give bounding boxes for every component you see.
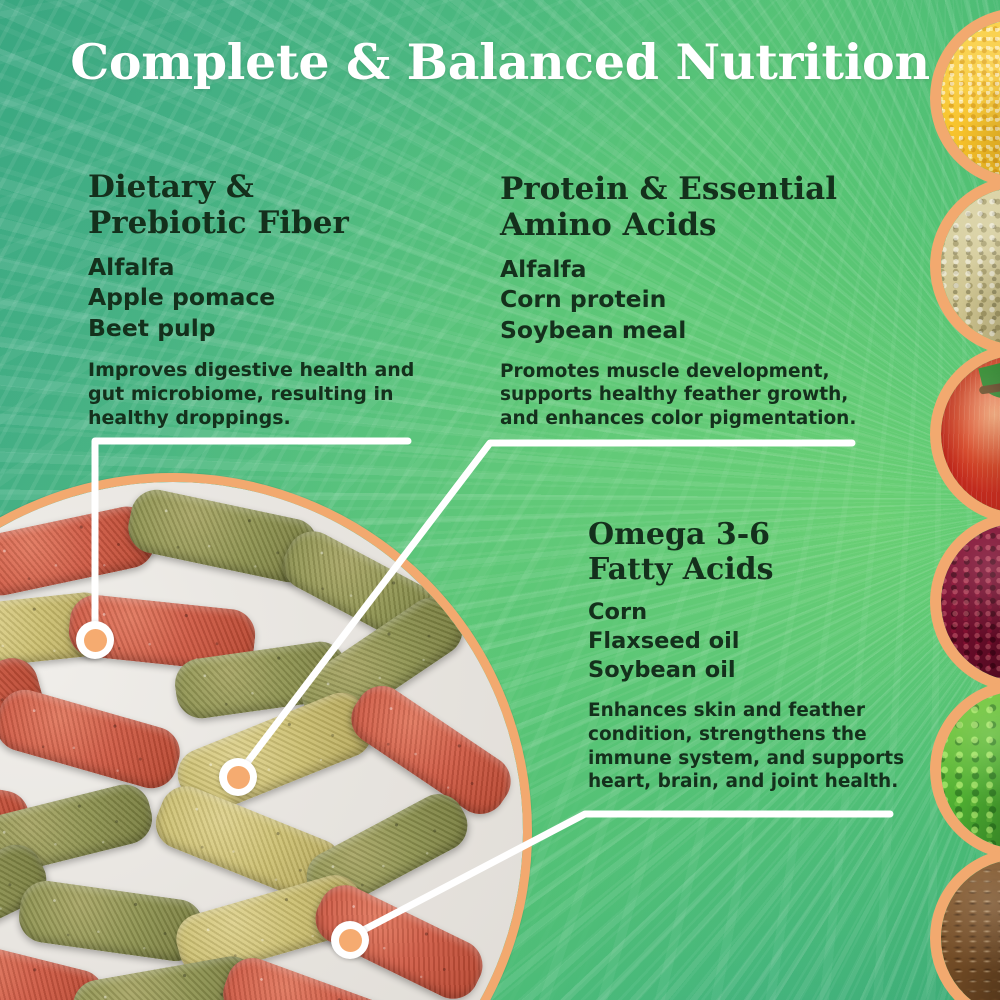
ingredient-item: Soybean oil [588, 656, 908, 685]
ingredient-item: Beet pulp [88, 313, 438, 344]
ingredient-item: Alfalfa [88, 252, 438, 283]
block-omega-ingredient-list: Corn Flaxseed oil Soybean oil [588, 598, 908, 686]
beet-pulp-shading [941, 523, 1000, 681]
page-title: Complete & Balanced Nutrition [0, 33, 1000, 91]
block-omega-description: Enhances skin and feather condition, str… [588, 699, 908, 794]
ingredient-item: Corn protein [500, 284, 870, 315]
block-fiber-ingredient-list: Alfalfa Apple pomace Beet pulp [88, 252, 438, 344]
ingredient-item: Apple pomace [88, 282, 438, 313]
ingredient-item: Flaxseed oil [588, 627, 908, 656]
block-protein-ingredient-list: Alfalfa Corn protein Soybean meal [500, 254, 870, 346]
nutrition-infographic: Complete & Balanced Nutrition [0, 0, 1000, 1000]
ingredient-item: Corn [588, 598, 908, 627]
block-fiber-heading: Dietary & Prebiotic Fiber [88, 170, 438, 242]
block-protein-description: Promotes muscle development, supports he… [500, 360, 870, 431]
alfalfa-shading [941, 691, 1000, 849]
corn-meal-shading [941, 19, 1000, 177]
nutrition-block-omega: Omega 3-6 Fatty Acids Corn Flaxseed oil … [588, 518, 908, 794]
block-fiber-description: Improves digestive health and gut microb… [88, 358, 438, 431]
block-omega-heading: Omega 3-6 Fatty Acids [588, 518, 908, 588]
nutrition-block-protein: Protein & Essential Amino Acids Alfalfa … [500, 172, 870, 431]
ingredient-item: Soybean meal [500, 315, 870, 346]
flaxseed-shading [941, 859, 1000, 1000]
block-protein-heading: Protein & Essential Amino Acids [500, 172, 870, 244]
ingredient-item: Alfalfa [500, 254, 870, 285]
apple-shading [941, 355, 1000, 513]
soybean-meal-shading [941, 187, 1000, 345]
nutrition-block-fiber: Dietary & Prebiotic Fiber Alfalfa Apple … [88, 170, 438, 430]
